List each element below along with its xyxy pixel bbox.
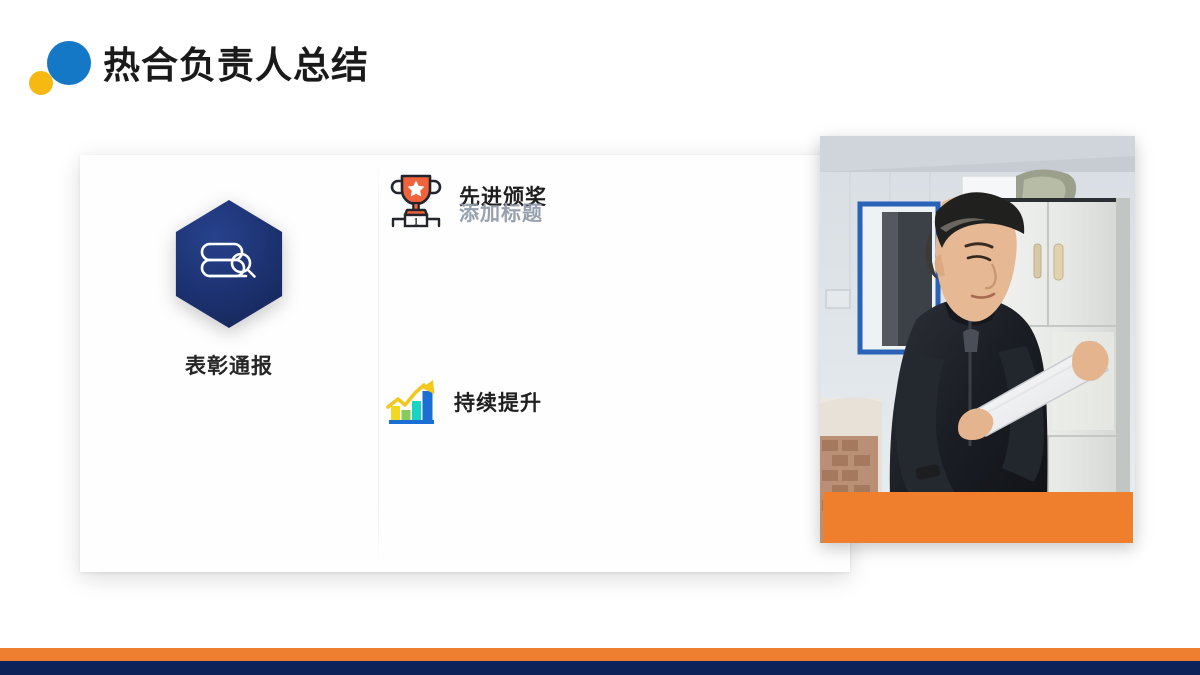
hexagon-badge[interactable] xyxy=(170,200,288,328)
feature-item-improvement[interactable]: 持续提升 xyxy=(380,373,584,435)
content-card: 表彰通报 xyxy=(80,155,850,572)
feature-improvement-title: 持续提升 xyxy=(454,393,584,415)
page-title: 热合负责人总结 xyxy=(103,44,369,88)
photo-orange-banner xyxy=(823,492,1133,543)
feature-item-award[interactable]: 1 先进颁奖 添加标题 xyxy=(385,167,589,229)
hexagon-badge-label: 表彰通报 xyxy=(100,350,358,380)
slide-canvas: 热合负责人总结 表彰通报 xyxy=(0,0,1200,675)
decor-blue-circle-icon xyxy=(47,41,91,85)
slide-header: 热合负责人总结 xyxy=(0,0,1200,130)
svg-text:1: 1 xyxy=(414,217,419,227)
decor-gold-circle-icon xyxy=(29,71,53,95)
feature-list: 1 先进颁奖 添加标题 xyxy=(380,155,850,572)
footer-navy-stripe xyxy=(0,661,1200,675)
feature-improvement-text: 持续提升 xyxy=(454,393,584,415)
feature-award-subtitle: 添加标题 xyxy=(459,204,543,225)
card-column-divider xyxy=(378,163,379,564)
hexagon-badge-block: 表彰通报 xyxy=(100,200,358,380)
document-search-icon xyxy=(198,238,260,290)
trophy-podium-icon: 1 xyxy=(385,167,447,229)
feature-award-text: 先进颁奖 添加标题 xyxy=(459,187,589,209)
photo-image xyxy=(820,136,1135,543)
growth-chart-icon xyxy=(380,373,442,435)
footer-orange-stripe xyxy=(0,648,1200,661)
